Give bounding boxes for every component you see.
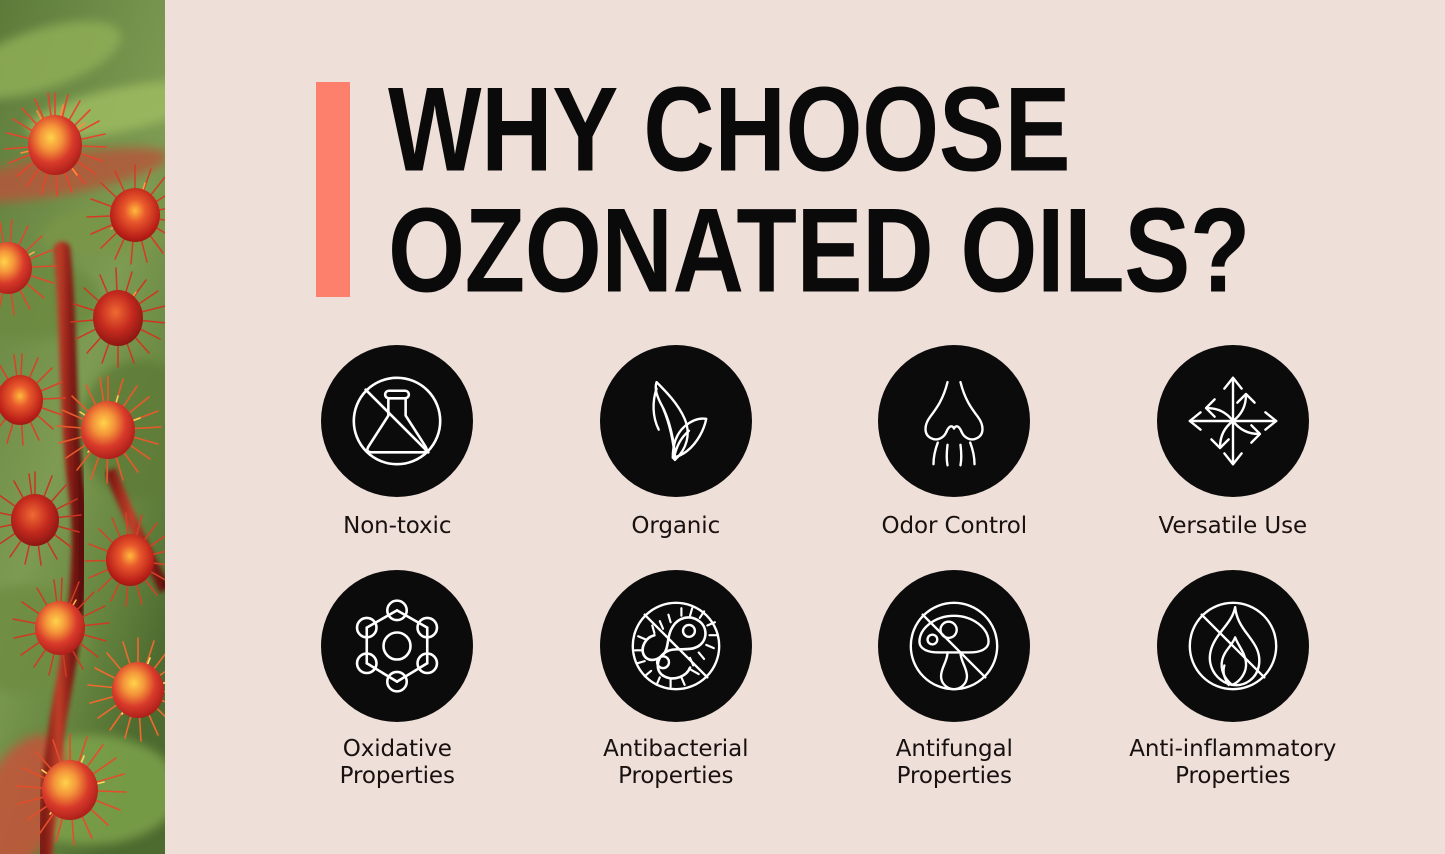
feature-label: Antifungal Properties: [896, 736, 1013, 790]
feature-item-oxidative-properties: Oxidative Properties: [258, 570, 537, 790]
multi-direction-arrows-icon: [1157, 345, 1309, 497]
feature-label: Non-toxic: [343, 513, 451, 540]
castor-plant-photo-graphic: [0, 0, 165, 854]
no-fungus-icon: [878, 570, 1030, 722]
page-title-line-1: WHY CHOOSE: [388, 74, 1220, 184]
accent-bar: [316, 82, 350, 297]
page-title-line-2: OZONATED OILS?: [388, 195, 1220, 305]
page-title: WHY CHOOSE OZONATED OILS?: [388, 74, 1328, 302]
no-flame-icon: [1157, 570, 1309, 722]
castor-plant-photo: [0, 0, 165, 854]
no-bacteria-icon: [600, 570, 752, 722]
feature-item-odor-control: Odor Control: [815, 345, 1094, 540]
molecule-icon: [321, 570, 473, 722]
feature-label: Oxidative Properties: [340, 736, 455, 790]
feature-label: Organic: [631, 513, 720, 540]
feature-item-versatile-use: Versatile Use: [1094, 345, 1373, 540]
feature-item-anti-inflammatory-properties: Anti-inflammatory Properties: [1094, 570, 1373, 790]
leaf-icon: [600, 345, 752, 497]
feature-label: Anti-inflammatory Properties: [1129, 736, 1336, 790]
feature-label: Odor Control: [882, 513, 1027, 540]
no-flask-icon: [321, 345, 473, 497]
feature-item-non-toxic: Non-toxic: [258, 345, 537, 540]
feature-item-antibacterial-properties: Antibacterial Properties: [537, 570, 816, 790]
feature-label: Antibacterial Properties: [603, 736, 748, 790]
feature-grid: Non-toxic Organic: [258, 345, 1372, 790]
poster-canvas: WHY CHOOSE OZONATED OILS? Non-toxic: [0, 0, 1445, 854]
nose-icon: [878, 345, 1030, 497]
headline-block: WHY CHOOSE OZONATED OILS?: [316, 74, 1326, 306]
feature-item-organic: Organic: [537, 345, 816, 540]
feature-label: Versatile Use: [1158, 513, 1307, 540]
feature-item-antifungal-properties: Antifungal Properties: [815, 570, 1094, 790]
